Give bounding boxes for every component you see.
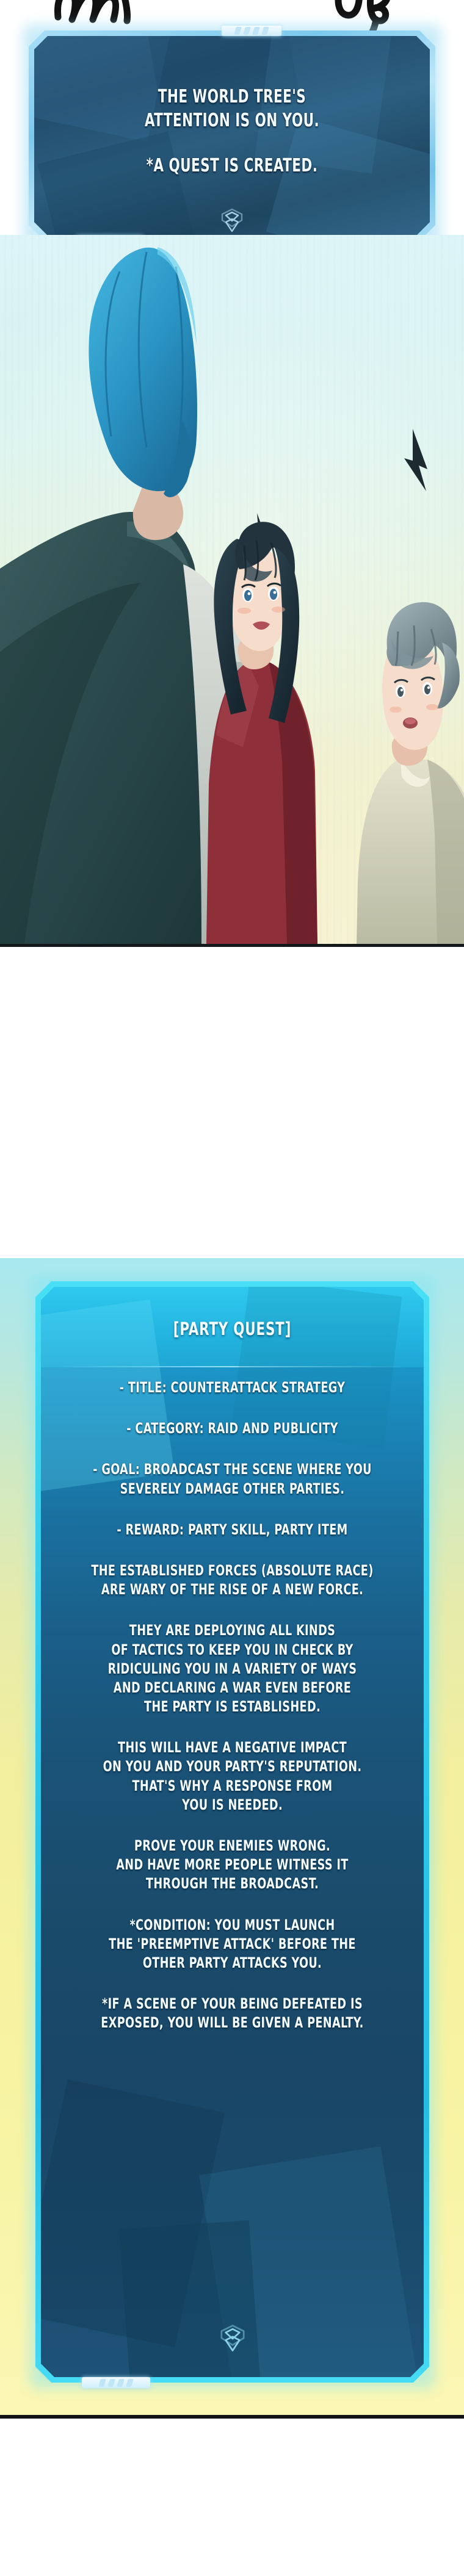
announcement-note: *A QUEST IS CREATED. [74,154,390,178]
scene-artwork [0,235,464,944]
quest-field-goal: - GOAL: BROADCAST THE SCENE WHERE YOU SE… [52,1460,413,1498]
window-inner: THE WORLD TREE'S ATTENTION IS ON YOU. *A… [34,36,430,236]
quest-lore-4: PROVE YOUR ENEMIES WRONG. AND HAVE MORE … [52,1837,413,1894]
quest-lore-2: THEY ARE DEPLOYING ALL KINDS OF TACTICS … [52,1621,413,1716]
party-window-inner: [PARTY QUEST] - TITLE: COUNTERATTACK STR… [41,1287,424,2377]
character-girl [206,513,317,944]
quest-field-title: - TITLE: COUNTERATTACK STRATEGY [52,1378,413,1397]
announcement-text-2: ATTENTION IS ON YOU. [74,109,390,132]
party-quest-title: [PARTY QUEST] [75,1319,389,1339]
quest-penalty: *IF A SCENE OF YOUR BEING DEFEATED IS EX… [52,1995,413,2032]
chevron-shield-emblem [219,207,245,237]
party-quest-body: - TITLE: COUNTERATTACK STRATEGY - CATEGO… [52,1378,413,2033]
system-quest-window: THE WORLD TREE'S ATTENTION IS ON YOU. *A… [29,31,435,241]
panel-party-quest: [PARTY QUEST] - TITLE: COUNTERATTACK STR… [0,1258,464,2419]
announcement-line-1: THE WORLD TREE'S ATTENTION IS ON YOU. [74,85,390,132]
quest-condition: *CONDITION: YOU MUST LAUNCH THE 'PREEMPT… [52,1916,413,1973]
frame-notch-top [222,26,281,36]
quest-lore-3: THIS WILL HAVE A NEGATIVE IMPACT ON YOU … [52,1738,413,1815]
quest-field-category: - CATEGORY: RAID AND PUBLICITY [52,1419,413,1438]
quest-lore-1: THE ESTABLISHED FORCES (ABSOLUTE RACE) A… [52,1561,413,1599]
quest-field-reward: - REWARD: PARTY SKILL, PARTY ITEM [52,1520,413,1539]
panel-scene-characters [0,235,464,947]
party-chevron-shield-emblem [218,2323,247,2356]
party-quest-window: [PARTY QUEST] - TITLE: COUNTERATTACK STR… [35,1281,429,2383]
announcement-text-1: THE WORLD TREE'S [74,85,390,109]
comic-page: THE WORLD TREE'S ATTENTION IS ON YOU. *A… [0,0,464,2576]
party-frame-notch-bottom [82,2377,150,2388]
character-boy [357,429,464,944]
shock-mark-boy [404,429,427,491]
